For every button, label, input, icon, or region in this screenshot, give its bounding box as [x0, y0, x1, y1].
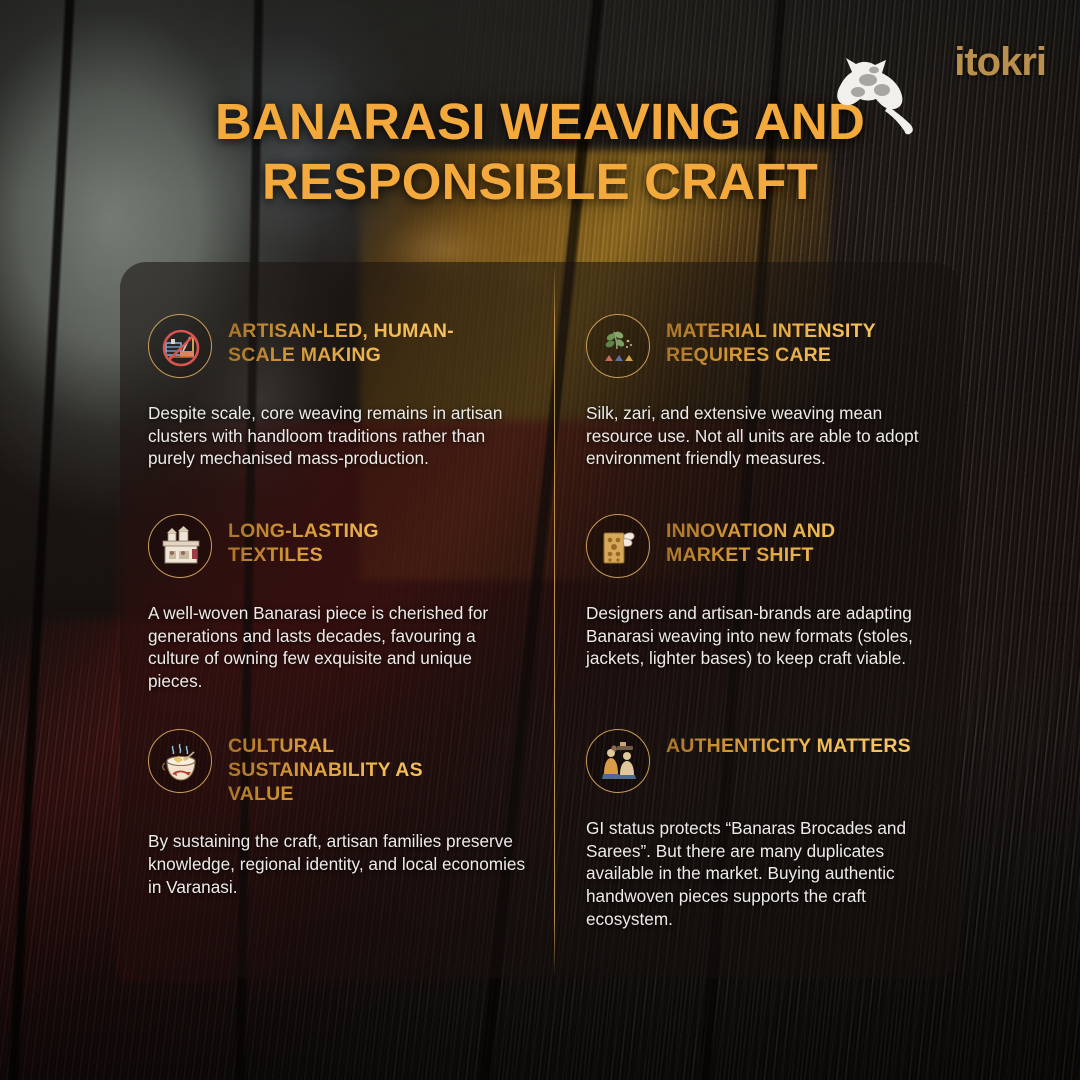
card-body: GI status protects “Banaras Brocades and…	[586, 817, 944, 931]
card-header: LONG-LASTING TEXTILES	[148, 514, 530, 578]
no-machine-icon	[148, 314, 212, 378]
card-material-intensity: MATERIAL INTENSITY REQUIRES CARE Silk, z…	[554, 262, 960, 462]
points-grid: ARTISAN-LED, HUMAN-SCALE MAKING Despite …	[120, 262, 960, 978]
card-header: AUTHENTICITY MATTERS	[586, 729, 944, 793]
card-title: ARTISAN-LED, HUMAN-SCALE MAKING	[228, 314, 478, 368]
card-header: ARTISAN-LED, HUMAN-SCALE MAKING	[148, 314, 530, 378]
card-body: Despite scale, core weaving remains in a…	[148, 402, 530, 470]
card-title: MATERIAL INTENSITY REQUIRES CARE	[666, 314, 916, 368]
card-title: AUTHENTICITY MATTERS	[666, 729, 911, 759]
card-header: MATERIAL INTENSITY REQUIRES CARE	[586, 314, 944, 378]
steaming-dye-pot-icon	[148, 729, 212, 793]
card-long-lasting-textiles: LONG-LASTING TEXTILES A well-woven Banar…	[120, 462, 554, 677]
cat-icon	[822, 52, 922, 138]
card-header: CULTURAL SUSTAINABILITY AS VALUE	[148, 729, 530, 806]
card-title: INNOVATION AND MARKET SHIFT	[666, 514, 916, 568]
card-cultural-sustainability: CULTURAL SUSTAINABILITY AS VALUE By sust…	[120, 677, 554, 978]
card-title: LONG-LASTING TEXTILES	[228, 514, 478, 568]
card-innovation-market-shift: INNOVATION AND MARKET SHIFT Designers an…	[554, 462, 960, 677]
craft-shop-building-icon	[148, 514, 212, 578]
infographic-poster: itokri BANARASI WEAVING AND RESPONSIBLE …	[0, 0, 1080, 1080]
two-artisans-seated-icon	[586, 729, 650, 793]
card-body: Designers and artisan-brands are adaptin…	[586, 602, 944, 670]
title-line-2: RESPONSIBLE CRAFT	[70, 152, 1010, 212]
card-body: By sustaining the craft, artisan familie…	[148, 830, 530, 898]
card-title: CULTURAL SUSTAINABILITY AS VALUE	[228, 729, 478, 806]
card-header: INNOVATION AND MARKET SHIFT	[586, 514, 944, 578]
card-authenticity-matters: AUTHENTICITY MATTERS GI status protects …	[554, 677, 960, 978]
hand-holding-fabric-icon	[586, 514, 650, 578]
brand-logo: itokri	[954, 40, 1046, 85]
card-body: Silk, zari, and extensive weaving mean r…	[586, 402, 944, 470]
card-artisan-led: ARTISAN-LED, HUMAN-SCALE MAKING Despite …	[120, 262, 554, 462]
leaves-and-dye-powder-icon	[586, 314, 650, 378]
